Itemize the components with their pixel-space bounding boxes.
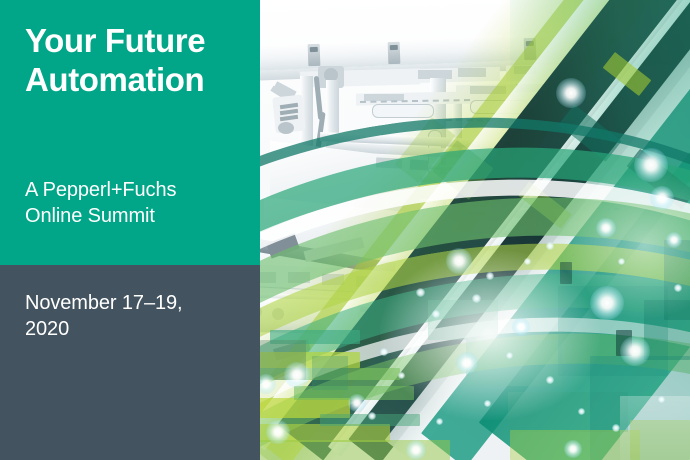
glow-dot <box>456 352 478 374</box>
glow-dot <box>484 400 491 407</box>
glow-dot <box>618 258 625 265</box>
glow-dot <box>564 440 582 458</box>
date-panel: November 17–19, 2020 <box>0 265 260 460</box>
glow-dot <box>432 310 440 318</box>
glow-dot <box>368 412 376 420</box>
glow-dot <box>596 218 616 238</box>
glow-dot <box>284 362 310 388</box>
glow-dot <box>436 418 443 425</box>
glow-dot <box>612 424 620 432</box>
event-subtitle: A Pepperl+Fuchs Online Summit <box>25 177 250 230</box>
glow-dot <box>348 394 366 412</box>
glow-dot <box>650 186 674 210</box>
glow-dot <box>380 348 388 356</box>
glow-dot <box>674 284 682 292</box>
glow-dot <box>512 318 530 336</box>
glow-dot <box>666 232 682 248</box>
glow-dot <box>546 242 554 250</box>
glow-dot <box>398 372 405 379</box>
glow-dot <box>556 78 586 108</box>
glow-dot <box>472 294 481 303</box>
glow-dot <box>658 396 665 403</box>
glow-dot <box>416 288 425 297</box>
glow-dot <box>620 336 650 366</box>
glow-dot <box>486 272 494 280</box>
green-text-panel: Your Future Automation A Pepperl+Fuchs O… <box>0 0 260 265</box>
abstract-green-graphic-overlay <box>260 0 690 460</box>
banner-image-panel <box>260 0 690 460</box>
page-title: Your Future Automation <box>25 22 250 100</box>
glow-dot <box>446 248 472 274</box>
glow-dot <box>590 286 624 320</box>
event-date: November 17–19, 2020 <box>25 290 250 343</box>
glow-dot <box>506 352 513 359</box>
glow-dot <box>634 148 668 182</box>
glow-dot <box>546 376 554 384</box>
promotional-banner: Your Future Automation A Pepperl+Fuchs O… <box>0 0 690 460</box>
glow-dot <box>406 440 426 460</box>
glow-dot <box>266 420 290 444</box>
glow-dot <box>578 408 585 415</box>
glow-dot <box>524 258 531 265</box>
